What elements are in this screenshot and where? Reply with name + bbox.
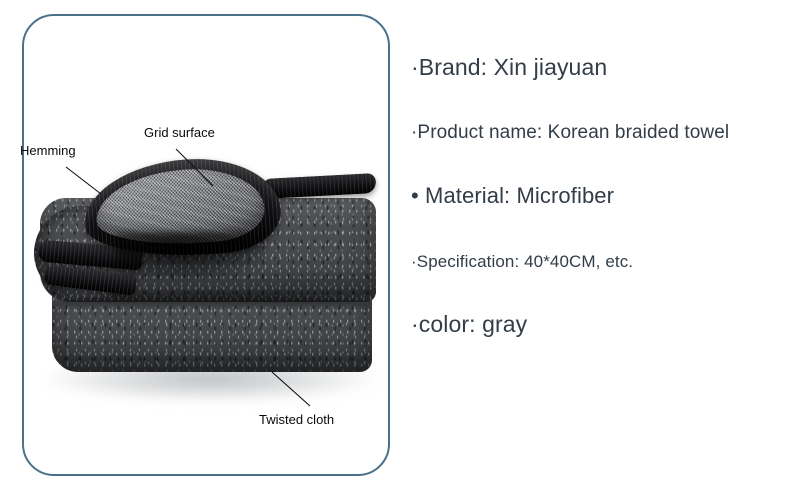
flap-inner-shadow <box>116 232 266 278</box>
product-photo <box>24 16 388 474</box>
product-photo-frame <box>22 14 390 476</box>
callout-label-hemming: Hemming <box>20 144 76 157</box>
spec-line-color: ·color: gray <box>411 313 781 336</box>
hem-binding-right <box>262 173 377 199</box>
callout-label-grid-surface: Grid surface <box>144 126 215 139</box>
towel-illustration <box>24 146 388 426</box>
specification-list: ·Brand: Xin jiayuan ·Product name: Korea… <box>411 56 781 336</box>
spec-line-brand: ·Brand: Xin jiayuan <box>411 56 781 79</box>
towel-crease <box>54 296 372 312</box>
spec-line-specification: ·Specification: 40*40CM, etc. <box>411 253 781 270</box>
callout-label-twisted-cloth: Twisted cloth <box>259 413 334 426</box>
spec-line-product-name: ·Product name: Korean braided towel <box>411 123 781 142</box>
spec-line-material: • Material: Microfiber <box>411 185 781 207</box>
